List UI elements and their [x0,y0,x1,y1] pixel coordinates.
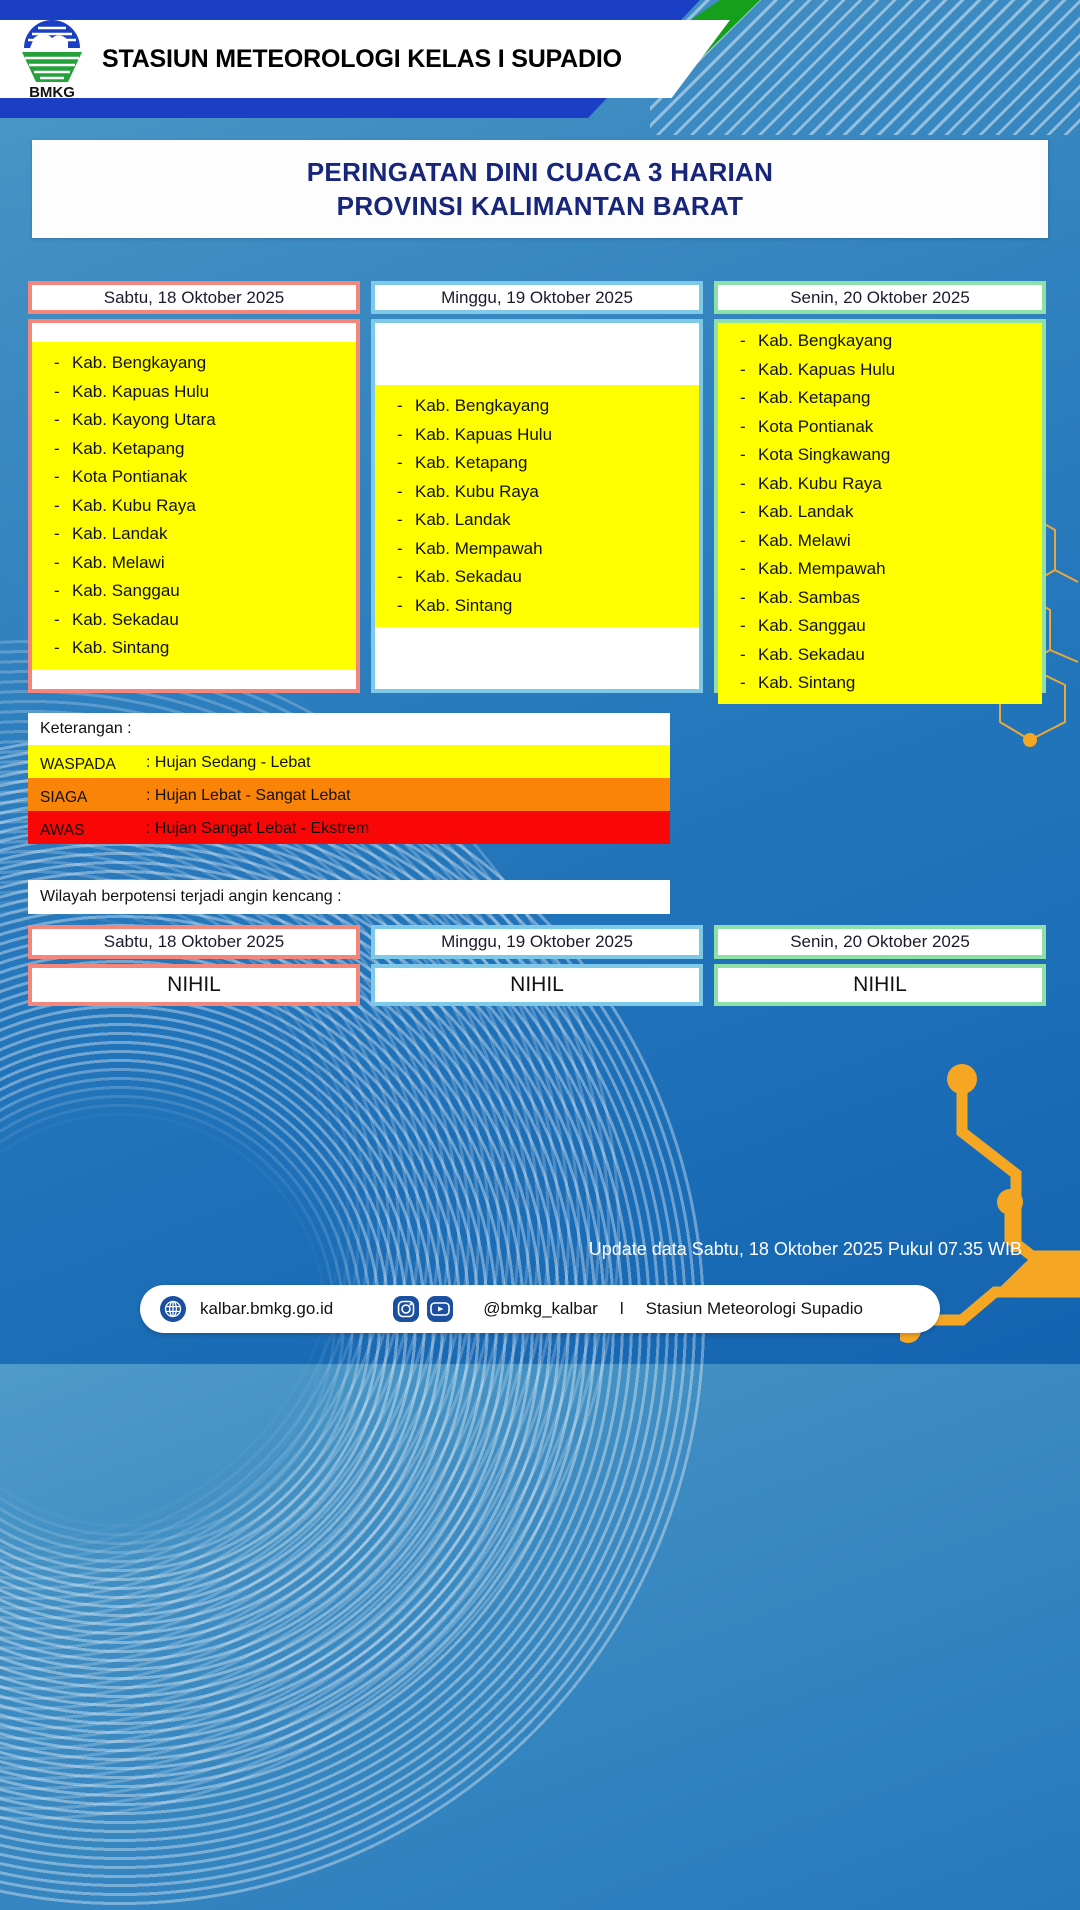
list-item: Kab. Sambas [718,584,1042,613]
bmkg-logo-icon: BMKG [16,14,88,100]
list-item: Kab. Ketapang [718,384,1042,413]
list-item: Kab. Landak [375,506,699,535]
list-item: Kab. Sanggau [718,612,1042,641]
wind-column-senin: Senin, 20 Oktober 2025 NIHIL [714,925,1046,1006]
list-item: Kab. Kapuas Hulu [375,421,699,450]
list-item: Kab. Bengkayang [32,349,356,378]
legend-desc-waspada: : Hujan Sedang - Lebat [146,748,311,778]
list-item: Kab. Ketapang [32,435,356,464]
list-item: Kab. Landak [32,520,356,549]
main-title-line-1: PERINGATAN DINI CUACA 3 HARIAN [307,155,773,189]
list-item: Kab. Mempawah [375,535,699,564]
list-item: Kab. Bengkayang [718,327,1042,356]
list-item: Kab. Landak [718,498,1042,527]
wind-header-sabtu: Sabtu, 18 Oktober 2025 [28,925,360,959]
wind-section-title: Wilayah berpotensi terjadi angin kencang… [28,880,670,914]
wind-header-minggu: Minggu, 19 Oktober 2025 [371,925,703,959]
youtube-icon[interactable] [427,1296,453,1322]
forecast-day-columns: Sabtu, 18 Oktober 2025 Kab. Bengkayang K… [28,281,1052,693]
main-title-panel: PERINGATAN DINI CUACA 3 HARIAN PROVINSI … [32,140,1048,238]
day-body-senin: Kab. Bengkayang Kab. Kapuas Hulu Kab. Ke… [714,319,1046,693]
list-item: Kab. Sintang [375,592,699,621]
legend-row-waspada: WASPADA : Hujan Sedang - Lebat [28,745,670,778]
list-item: Kab. Melawi [718,527,1042,556]
wind-value-minggu: NIHIL [371,964,703,1006]
legend-desc-awas: : Hujan Sangat Lebat - Ekstrem [146,814,369,844]
legend-level-siaga: SIAGA [28,785,146,811]
header-content: BMKG STASIUN METEOROLOGI KELAS I SUPADIO [0,20,622,98]
list-item: Kab. Melawi [32,549,356,578]
wind-header-senin: Senin, 20 Oktober 2025 [714,925,1046,959]
legend-desc-siaga: : Hujan Lebat - Sangat Lebat [146,781,351,811]
list-item: Kab. Kapuas Hulu [32,378,356,407]
list-item: Kab. Kapuas Hulu [718,356,1042,385]
legend-title: Keterangan : [28,713,670,745]
station-name: Stasiun Meteorologi Supadio [646,1299,863,1319]
wind-columns: Sabtu, 18 Oktober 2025 NIHIL Minggu, 19 … [28,925,1052,1006]
list-item: Kab. Mempawah [718,555,1042,584]
list-item: Kab. Ketapang [375,449,699,478]
day-header-minggu: Minggu, 19 Oktober 2025 [371,281,703,314]
header-title: STASIUN METEOROLOGI KELAS I SUPADIO [102,45,622,74]
area-list-minggu: Kab. Bengkayang Kab. Kapuas Hulu Kab. Ke… [375,385,699,627]
list-item: Kab. Sanggau [32,577,356,606]
day-body-minggu: Kab. Bengkayang Kab. Kapuas Hulu Kab. Ke… [371,319,703,693]
list-item: Kab. Sintang [718,669,1042,698]
list-item: Kab. Sekadau [718,641,1042,670]
legend-level-waspada: WASPADA [28,752,146,778]
list-item: Kab. Kubu Raya [718,470,1042,499]
list-item: Kab. Kubu Raya [375,478,699,507]
list-item: Kab. Sekadau [32,606,356,635]
day-header-sabtu: Sabtu, 18 Oktober 2025 [28,281,360,314]
list-item: Kota Pontianak [718,413,1042,442]
legend-row-awas: AWAS : Hujan Sangat Lebat - Ekstrem [28,811,670,844]
globe-icon[interactable] [160,1296,186,1322]
area-list-senin: Kab. Bengkayang Kab. Kapuas Hulu Kab. Ke… [718,323,1042,704]
wind-value-senin: NIHIL [714,964,1046,1006]
page-header: BMKG STASIUN METEOROLOGI KELAS I SUPADIO [0,0,1080,118]
update-timestamp: Update data Sabtu, 18 Oktober 2025 Pukul… [589,1239,1022,1260]
social-icon-group [393,1296,453,1322]
legend-row-siaga: SIAGA : Hujan Lebat - Sangat Lebat [28,778,670,811]
list-item: Kota Singkawang [718,441,1042,470]
social-handle[interactable]: @bmkg_kalbar [483,1299,598,1319]
instagram-icon[interactable] [393,1296,419,1322]
day-column-sabtu: Sabtu, 18 Oktober 2025 Kab. Bengkayang K… [28,281,360,693]
legend-panel: Keterangan : WASPADA : Hujan Sedang - Le… [28,713,670,844]
list-item: Kota Pontianak [32,463,356,492]
day-header-senin: Senin, 20 Oktober 2025 [714,281,1046,314]
main-title-line-2: PROVINSI KALIMANTAN BARAT [337,189,744,223]
wind-value-sabtu: NIHIL [28,964,360,1006]
list-item: Kab. Kayong Utara [32,406,356,435]
list-item: Kab. Kubu Raya [32,492,356,521]
list-item: Kab. Bengkayang [375,392,699,421]
wind-column-sabtu: Sabtu, 18 Oktober 2025 NIHIL [28,925,360,1006]
day-body-sabtu: Kab. Bengkayang Kab. Kapuas Hulu Kab. Ka… [28,319,360,693]
list-item: Kab. Sekadau [375,563,699,592]
legend-level-awas: AWAS [28,818,146,844]
footer-contact-bar: kalbar.bmkg.go.id @bmkg_kalbar l Stasiun… [140,1285,940,1333]
area-list-sabtu: Kab. Bengkayang Kab. Kapuas Hulu Kab. Ka… [32,342,356,670]
website-link[interactable]: kalbar.bmkg.go.id [200,1299,333,1319]
list-item: Kab. Sintang [32,634,356,663]
day-column-minggu: Minggu, 19 Oktober 2025 Kab. Bengkayang … [371,281,703,693]
wind-column-minggu: Minggu, 19 Oktober 2025 NIHIL [371,925,703,1006]
bmkg-wordmark: BMKG [29,84,75,100]
day-column-senin: Senin, 20 Oktober 2025 Kab. Bengkayang K… [714,281,1046,693]
footer-separator: l [620,1299,624,1319]
